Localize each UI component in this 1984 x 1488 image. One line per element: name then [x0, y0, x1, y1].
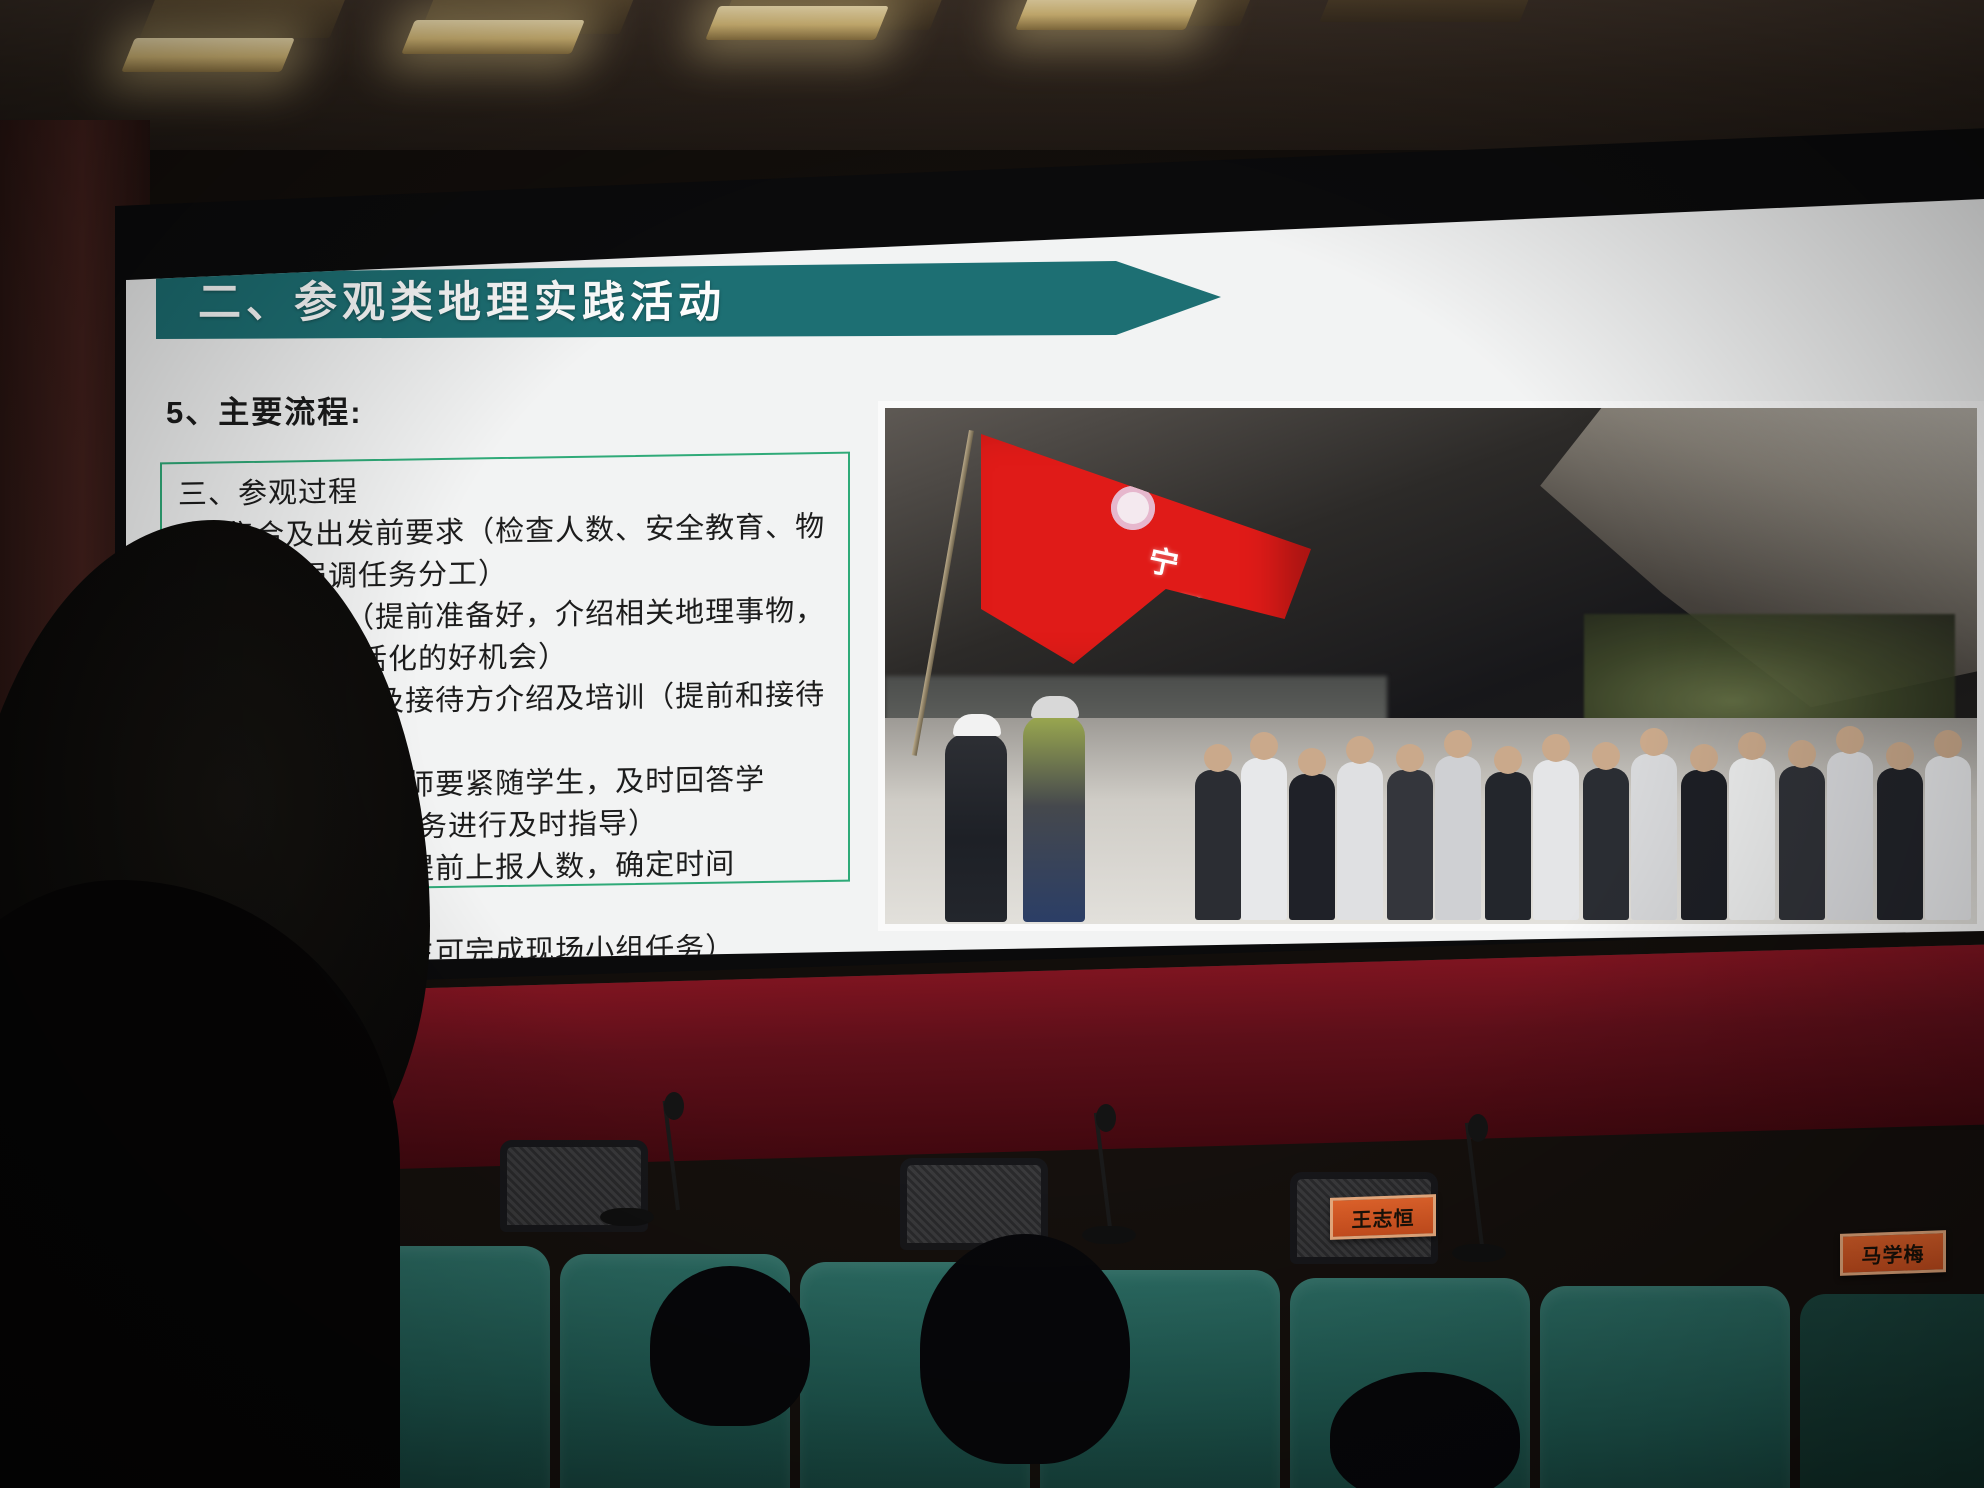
flag-emblem-icon: [1111, 486, 1155, 530]
field-trip-photo: 宁 孔: [878, 401, 1984, 931]
slide-subheading: 5、主要流程:: [166, 387, 363, 432]
auditorium-scene: 二、参观类地理实践活动 5、主要流程: 三、参观过程 1、集合及出发前要求（检查…: [0, 0, 1984, 1488]
grey-cap-icon: [1031, 696, 1079, 718]
slide-title-banner: 二、参观类地理实践活动: [156, 261, 1226, 339]
audience-head: [920, 1234, 1130, 1464]
photo-student-group: [1185, 680, 1984, 920]
seat: [1540, 1286, 1790, 1488]
seat: [1800, 1294, 1984, 1488]
flag-text-char1: 宁: [1145, 535, 1183, 584]
slide-title: 二、参观类地理实践活动: [198, 268, 726, 330]
audience-head: [650, 1266, 810, 1426]
white-cap-icon: [953, 714, 1001, 736]
microphone-head-icon: [664, 1092, 684, 1120]
